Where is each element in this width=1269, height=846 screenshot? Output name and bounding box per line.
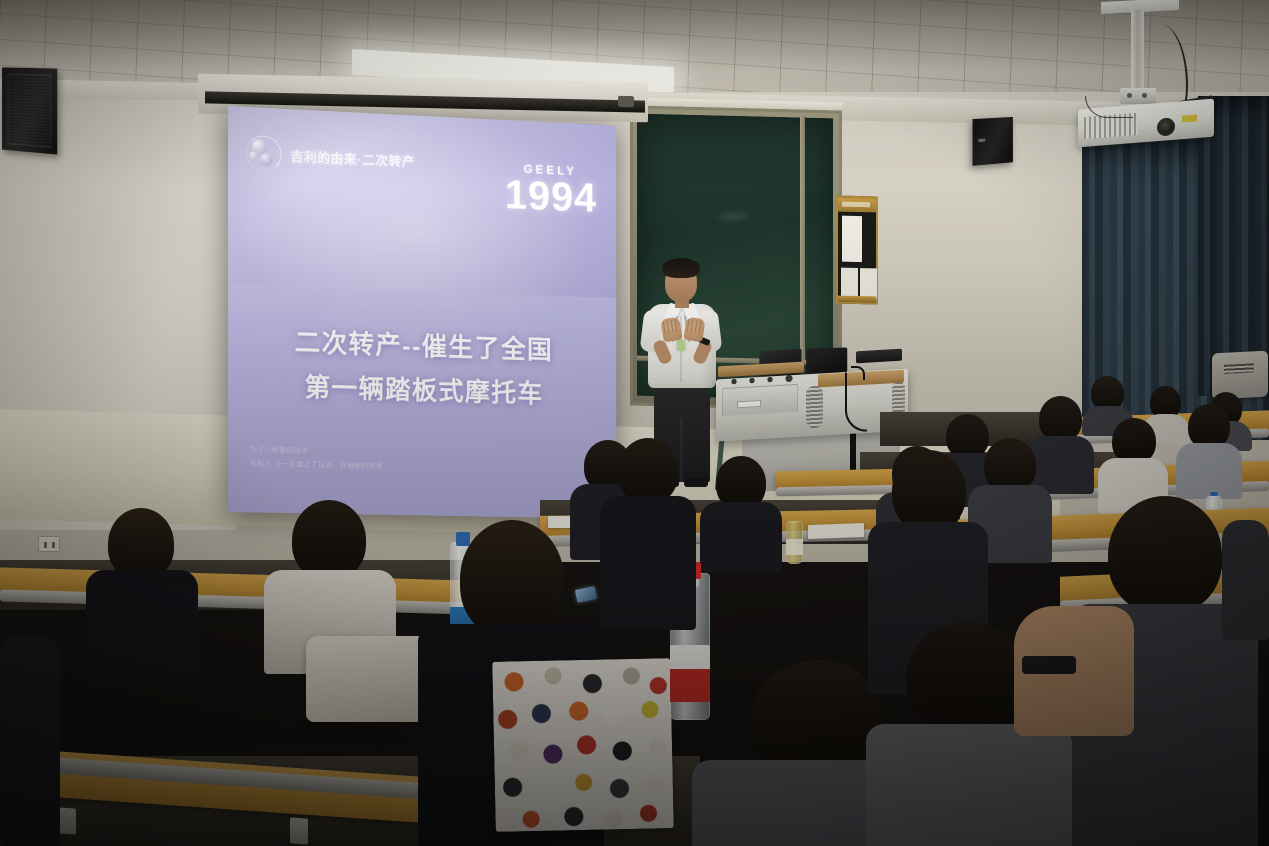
speaker-badge [978, 139, 985, 143]
desk-rail-clip [58, 807, 76, 834]
torso [86, 570, 198, 682]
projector-warning-label [1182, 114, 1197, 122]
wall-speaker-left [2, 67, 57, 154]
head [460, 520, 564, 638]
notice-board-header [838, 198, 876, 213]
open-notebook [808, 523, 864, 539]
blackboard-slide-rail [800, 116, 805, 360]
slide-year: 1994 [505, 175, 596, 218]
notice-sheet [842, 216, 862, 262]
slide-kicker-text: 吉利的由来·二次转产 [291, 145, 415, 170]
slide-footnote: 为了一种新的追求 吉利人 又一次踏上了征途，开始新的探索 [250, 444, 474, 475]
podium-cable [845, 372, 867, 433]
student-edge-right [1222, 520, 1269, 640]
head [906, 622, 1028, 734]
head [1108, 496, 1222, 614]
desk-rail-clip [290, 817, 308, 844]
student-mid-right [1176, 404, 1242, 496]
wall-notice-board [836, 196, 878, 305]
torso [866, 724, 1072, 846]
student-row2-center [700, 456, 782, 568]
notice-board-footer [838, 296, 876, 303]
student-front-center [600, 438, 696, 628]
presenter-hair [662, 258, 700, 278]
student-front-left [86, 508, 198, 678]
podium-cable-loop [851, 366, 865, 380]
projection-screen: 吉利的由来·二次转产 GEELY 1994 二次转产--催生了全国 第一辆踏板式… [228, 106, 616, 519]
torso [1176, 443, 1242, 499]
torso [600, 496, 696, 630]
slide-brand-block: GEELY 1994 [505, 161, 596, 218]
lectern-monitor-secondary[interactable] [806, 347, 847, 373]
tea-bottle [786, 516, 803, 564]
presenter-badge [677, 340, 685, 351]
wristwatch [1022, 656, 1076, 674]
slide-title: 二次转产--催生了全国 第一辆踏板式摩托车 [228, 318, 616, 418]
bottle-cap [790, 516, 800, 521]
lecture-hall-photo: 吉利的由来·二次转产 GEELY 1994 二次转产--催生了全国 第一辆踏板式… [0, 0, 1269, 846]
slide-header: 吉利的由来·二次转产 [246, 135, 415, 179]
head [892, 450, 966, 532]
notice-sheet [841, 268, 858, 298]
torso [0, 636, 60, 846]
torso [1222, 520, 1269, 640]
student-edge-left [0, 636, 60, 846]
wall-speaker-right [973, 117, 1013, 166]
presenter-hand-left [660, 317, 682, 343]
torso [700, 502, 782, 572]
bottle-label [786, 539, 803, 555]
projection-screen-pull-knob[interactable] [618, 96, 634, 107]
head [618, 438, 678, 504]
head [752, 660, 884, 772]
presenter-hand-right [683, 317, 705, 343]
watch-band [1022, 656, 1076, 674]
podium-drawer[interactable] [722, 384, 798, 416]
collage-graphic-print [492, 658, 674, 832]
notice-sheet [860, 268, 877, 298]
presentation-slide: 吉利的由来·二次转产 GEELY 1994 二次转产--催生了全国 第一辆踏板式… [228, 106, 616, 519]
wall-power-outlet [38, 536, 60, 552]
podium-speaker-grille [806, 386, 823, 429]
geely-sphere-logo-icon [246, 135, 282, 173]
head [292, 500, 366, 580]
